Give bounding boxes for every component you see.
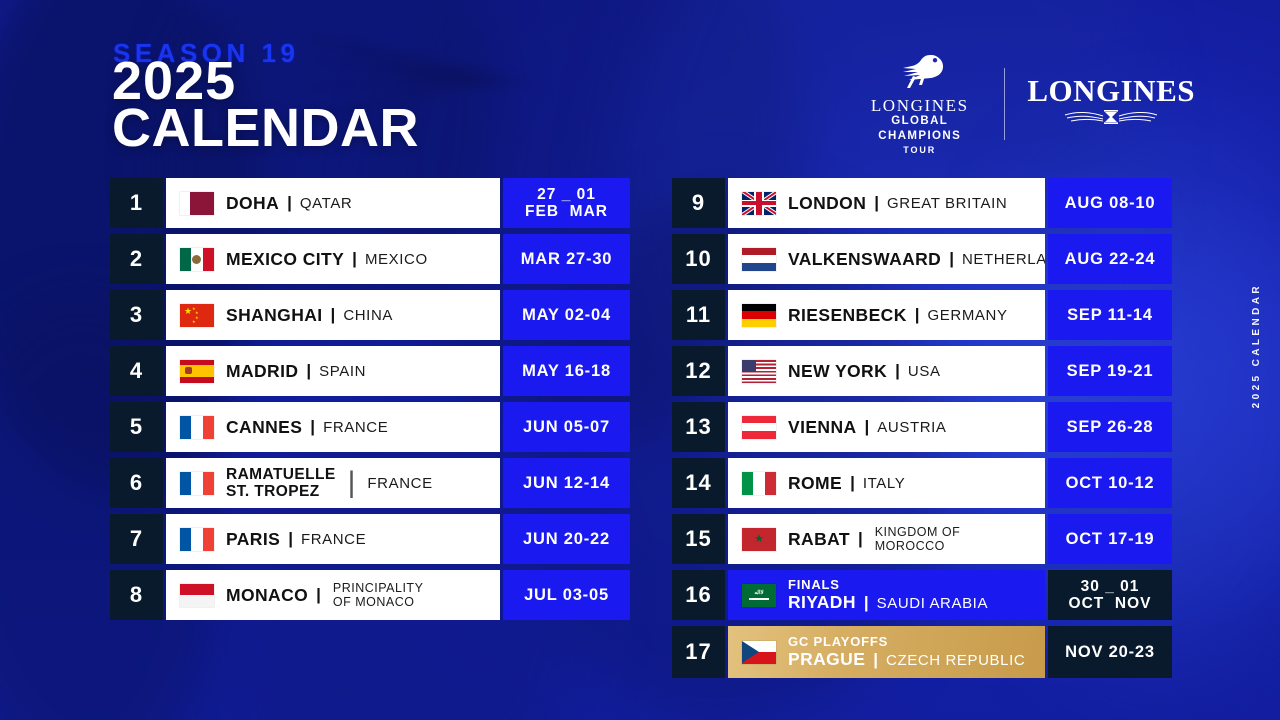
flag-icon-netherlands xyxy=(742,248,776,271)
row-number: 2 xyxy=(110,234,163,284)
date-range: SEP 11-14 xyxy=(1067,306,1153,325)
row-venue[interactable]: MADRID|SPAIN xyxy=(166,346,500,396)
row-venue[interactable]: ★RABAT|KINGDOM OFMOROCCO xyxy=(728,514,1045,564)
calendar-row[interactable]: 11RIESENBECK|GERMANYSEP 11-14 xyxy=(672,290,1172,340)
row-country: PRINCIPALITY xyxy=(333,581,424,595)
row-separator: | xyxy=(864,593,869,613)
date-range: NOV 20-23 xyxy=(1065,643,1155,662)
row-venue[interactable]: PARIS|FRANCE xyxy=(166,514,500,564)
date-separator: _ xyxy=(562,186,572,203)
row-country: GREAT BRITAIN xyxy=(887,195,1007,212)
flag-icon-china: ★★★★★ xyxy=(180,304,214,327)
row-venue-text: VALKENSWAARD|NETHERLANDS xyxy=(788,249,1045,270)
row-country: KINGDOM OF xyxy=(875,525,961,539)
date-range: JUN 20-22 xyxy=(523,530,610,549)
row-number: 10 xyxy=(672,234,725,284)
calendar-row[interactable]: 1DOHA|QATAR27 _ 01FEB MAR xyxy=(110,178,630,228)
date-month-start: OCT xyxy=(1069,595,1105,612)
row-city: PRAGUE xyxy=(788,649,865,670)
flag-icon-monaco xyxy=(180,584,214,607)
date-day-start: 27 xyxy=(537,186,556,203)
row-separator: | xyxy=(858,529,863,549)
row-venue-text: MEXICO CITY|MEXICO xyxy=(226,249,428,270)
flag-icon-france xyxy=(180,472,214,495)
date-month-start: FEB xyxy=(525,203,559,220)
row-city: SHANGHAI xyxy=(226,305,323,326)
lgct-logo: LONGINES GLOBAL CHAMPIONS TOUR xyxy=(855,52,984,157)
lgct-tour: TOUR xyxy=(855,144,984,157)
calendar-row[interactable]: 16لاالهFINALSRIYADH|SAUDI ARABIA30 _ 01O… xyxy=(672,570,1172,620)
row-separator: | xyxy=(288,529,293,549)
row-country: FRANCE xyxy=(367,475,432,492)
row-separator: | xyxy=(873,650,878,670)
row-separator: | xyxy=(287,193,292,213)
row-date: SEP 26-28 xyxy=(1048,402,1172,452)
row-venue-text: GC PLAYOFFSPRAGUE|CZECH REPUBLIC xyxy=(788,634,1025,670)
calendar-row[interactable]: 8MONACO|PRINCIPALITYOF MONACOJUL 03-05 xyxy=(110,570,630,620)
row-city: LONDON xyxy=(788,193,866,214)
row-date: OCT 17-19 xyxy=(1048,514,1172,564)
flag-icon-austria xyxy=(742,416,776,439)
date-day-end: 01 xyxy=(1120,578,1139,595)
calendar-row[interactable]: 13VIENNA|AUSTRIASEP 26-28 xyxy=(672,402,1172,452)
date-range: AUG 22-24 xyxy=(1065,250,1156,269)
row-city: RABAT xyxy=(788,529,850,550)
row-separator: | xyxy=(310,417,315,437)
row-venue[interactable]: ROME|ITALY xyxy=(728,458,1045,508)
row-date: MAY 02-04 xyxy=(503,290,630,340)
page-title: 2025 CALENDAR xyxy=(112,58,419,152)
row-date: 30 _ 01OCT NOV xyxy=(1048,570,1172,620)
row-venue[interactable]: MONACO|PRINCIPALITYOF MONACO xyxy=(166,570,500,620)
horse-icon xyxy=(883,52,957,92)
row-venue-text: MADRID|SPAIN xyxy=(226,361,366,382)
date-range-two-line: 30 _ 01OCT NOV xyxy=(1069,578,1152,612)
date-month-end: MAR xyxy=(570,203,608,220)
calendar-row[interactable]: 10VALKENSWAARD|NETHERLANDSAUG 22-24 xyxy=(672,234,1172,284)
title-word: CALENDAR xyxy=(112,105,419,152)
calendar-row[interactable]: 2MEXICO CITY|MEXICOMAR 27-30 xyxy=(110,234,630,284)
flag-icon-usa xyxy=(742,360,776,383)
row-venue-text: MONACO|PRINCIPALITYOF MONACO xyxy=(226,581,423,609)
flag-icon-saudi: لااله xyxy=(742,584,776,607)
flag-icon-france xyxy=(180,528,214,551)
row-date: AUG 08-10 xyxy=(1048,178,1172,228)
flag-icon-germany xyxy=(742,304,776,327)
row-date: JUL 03-05 xyxy=(503,570,630,620)
row-venue[interactable]: ★★★★★SHANGHAI|CHINA xyxy=(166,290,500,340)
longines-logo: LONGINES xyxy=(1027,75,1195,133)
date-range: JUN 05-07 xyxy=(523,418,610,437)
row-venue[interactable]: GC PLAYOFFSPRAGUE|CZECH REPUBLIC xyxy=(728,626,1045,678)
row-number: 1 xyxy=(110,178,163,228)
row-separator: | xyxy=(352,249,357,269)
row-venue[interactable]: DOHA|QATAR xyxy=(166,178,500,228)
row-country: CZECH REPUBLIC xyxy=(886,652,1025,669)
calendar-row[interactable]: 5CANNES|FRANCEJUN 05-07 xyxy=(110,402,630,452)
row-venue[interactable]: لاالهFINALSRIYADH|SAUDI ARABIA xyxy=(728,570,1045,620)
row-city: VALKENSWAARD xyxy=(788,249,941,270)
flag-icon-morocco: ★ xyxy=(742,528,776,551)
row-number: 9 xyxy=(672,178,725,228)
row-date: MAY 16-18 xyxy=(503,346,630,396)
row-date: NOV 20-23 xyxy=(1048,626,1172,678)
row-country-line2: MOROCCO xyxy=(875,539,961,553)
calendar-row[interactable]: 15★RABAT|KINGDOM OFMOROCCOOCT 17-19 xyxy=(672,514,1172,564)
calendar-row[interactable]: 7PARIS|FRANCEJUN 20-22 xyxy=(110,514,630,564)
calendar-row[interactable]: 9LONDON|GREAT BRITAINAUG 08-10 xyxy=(672,178,1172,228)
row-date: MAR 27-30 xyxy=(503,234,630,284)
row-number: 14 xyxy=(672,458,725,508)
row-separator: | xyxy=(331,305,336,325)
date-range: OCT 10-12 xyxy=(1066,474,1155,493)
row-city: DOHA xyxy=(226,193,279,214)
date-day-end: 01 xyxy=(577,186,596,203)
row-venue-text: ROME|ITALY xyxy=(788,473,905,494)
row-city: PARIS xyxy=(226,529,280,550)
row-number: 4 xyxy=(110,346,163,396)
row-number: 3 xyxy=(110,290,163,340)
calendar-row[interactable]: 14ROME|ITALYOCT 10-12 xyxy=(672,458,1172,508)
row-venue[interactable]: LONDON|GREAT BRITAIN xyxy=(728,178,1045,228)
logo-divider xyxy=(1004,68,1005,140)
row-country: AUSTRIA xyxy=(877,419,946,436)
calendar-column-right: 9LONDON|GREAT BRITAINAUG 08-1010VALKENSW… xyxy=(672,178,1172,684)
row-separator: | xyxy=(316,585,321,605)
row-separator: | xyxy=(874,193,879,213)
row-date: JUN 20-22 xyxy=(503,514,630,564)
row-separator: | xyxy=(949,249,954,269)
row-number: 8 xyxy=(110,570,163,620)
row-country: USA xyxy=(908,363,941,380)
row-date: OCT 10-12 xyxy=(1048,458,1172,508)
row-venue-text: SHANGHAI|CHINA xyxy=(226,305,393,326)
row-separator: | xyxy=(348,466,356,500)
calendar-row[interactable]: 12NEW YORK|USASEP 19-21 xyxy=(672,346,1172,396)
row-separator: | xyxy=(895,361,900,381)
flag-icon-qatar xyxy=(180,192,214,215)
row-country: FRANCE xyxy=(323,419,388,436)
row-city: RIYADH xyxy=(788,592,856,613)
flag-icon-mexico xyxy=(180,248,214,271)
lgct-longines-word: LONGINES xyxy=(855,97,984,114)
date-range: OCT 17-19 xyxy=(1066,530,1155,549)
row-date: 27 _ 01FEB MAR xyxy=(503,178,630,228)
date-range: MAR 27-30 xyxy=(521,250,613,269)
row-venue-text: CANNES|FRANCE xyxy=(226,417,388,438)
row-tagline: GC PLAYOFFS xyxy=(788,634,1025,649)
row-number: 5 xyxy=(110,402,163,452)
row-separator: | xyxy=(865,417,870,437)
date-range: AUG 08-10 xyxy=(1065,194,1156,213)
row-venue[interactable]: RIESENBECK|GERMANY xyxy=(728,290,1045,340)
date-separator: _ xyxy=(1105,578,1115,595)
winged-hourglass-icon xyxy=(1063,106,1159,128)
row-city: MONACO xyxy=(226,585,308,606)
row-venue-text: NEW YORK|USA xyxy=(788,361,941,382)
calendar-column-left: 1DOHA|QATAR27 _ 01FEB MAR2MEXICO CITY|ME… xyxy=(110,178,630,626)
row-country: NETHERLANDS xyxy=(962,251,1045,268)
date-range: MAY 02-04 xyxy=(522,306,611,325)
row-venue[interactable]: RAMATUELLEST. TROPEZ|FRANCE xyxy=(166,458,500,508)
date-range: SEP 19-21 xyxy=(1067,362,1154,381)
row-country-line2: OF MONACO xyxy=(333,595,424,609)
row-venue-text: PARIS|FRANCE xyxy=(226,529,366,550)
row-separator: | xyxy=(850,473,855,493)
row-date: AUG 22-24 xyxy=(1048,234,1172,284)
date-day-start: 30 xyxy=(1081,578,1100,595)
date-range: JUN 12-14 xyxy=(523,474,610,493)
date-range: SEP 26-28 xyxy=(1067,418,1154,437)
row-venue-text: LONDON|GREAT BRITAIN xyxy=(788,193,1007,214)
row-number: 16 xyxy=(672,570,725,620)
row-venue[interactable]: CANNES|FRANCE xyxy=(166,402,500,452)
date-month-end: NOV xyxy=(1115,595,1152,612)
row-country: ITALY xyxy=(863,475,905,492)
flag-icon-uk xyxy=(742,192,776,215)
row-city: RAMATUELLE xyxy=(226,466,336,483)
row-date: JUN 05-07 xyxy=(503,402,630,452)
row-venue-text: RIESENBECK|GERMANY xyxy=(788,305,1008,326)
row-separator: | xyxy=(306,361,311,381)
row-city: NEW YORK xyxy=(788,361,887,382)
side-label: 2025 CALENDAR xyxy=(1251,283,1262,408)
row-city: VIENNA xyxy=(788,417,857,438)
flag-icon-france xyxy=(180,416,214,439)
row-number: 6 xyxy=(110,458,163,508)
date-range: MAY 16-18 xyxy=(522,362,611,381)
row-number: 17 xyxy=(672,626,725,678)
row-country: QATAR xyxy=(300,195,352,212)
row-number: 15 xyxy=(672,514,725,564)
date-range-two-line: 27 _ 01FEB MAR xyxy=(525,186,608,220)
row-separator: | xyxy=(915,305,920,325)
flag-icon-italy xyxy=(742,472,776,495)
row-venue-text: RAMATUELLEST. TROPEZ|FRANCE xyxy=(226,466,433,500)
flag-icon-czech xyxy=(742,641,776,664)
row-country: MEXICO xyxy=(365,251,428,268)
row-number: 12 xyxy=(672,346,725,396)
page-header: SEASON 19 2025 CALENDAR LONGINES GLOBAL … xyxy=(0,0,1280,175)
row-city: MADRID xyxy=(226,361,298,382)
row-city: MEXICO CITY xyxy=(226,249,344,270)
row-tagline: FINALS xyxy=(788,577,988,592)
longines-wordmark: LONGINES xyxy=(1027,75,1195,106)
row-country: SAUDI ARABIA xyxy=(877,595,988,612)
row-country: FRANCE xyxy=(301,531,366,548)
row-date: JUN 12-14 xyxy=(503,458,630,508)
lgct-global-champions: GLOBAL CHAMPIONS xyxy=(855,114,984,144)
row-venue-text: FINALSRIYADH|SAUDI ARABIA xyxy=(788,577,988,613)
row-city-line2: ST. TROPEZ xyxy=(226,483,336,500)
date-range: JUL 03-05 xyxy=(524,586,609,605)
calendar-row[interactable]: 17GC PLAYOFFSPRAGUE|CZECH REPUBLICNOV 20… xyxy=(672,626,1172,678)
row-venue-text: RABAT|KINGDOM OFMOROCCO xyxy=(788,525,960,553)
row-date: SEP 19-21 xyxy=(1048,346,1172,396)
calendar-row[interactable]: 4MADRID|SPAINMAY 16-18 xyxy=(110,346,630,396)
row-date: SEP 11-14 xyxy=(1048,290,1172,340)
row-city: RIESENBECK xyxy=(788,305,907,326)
row-venue[interactable]: NEW YORK|USA xyxy=(728,346,1045,396)
row-venue-text: VIENNA|AUSTRIA xyxy=(788,417,947,438)
row-venue[interactable]: VIENNA|AUSTRIA xyxy=(728,402,1045,452)
row-city: CANNES xyxy=(226,417,302,438)
row-country: SPAIN xyxy=(319,363,366,380)
calendar-row[interactable]: 3★★★★★SHANGHAI|CHINAMAY 02-04 xyxy=(110,290,630,340)
row-number: 13 xyxy=(672,402,725,452)
row-number: 7 xyxy=(110,514,163,564)
row-venue[interactable]: MEXICO CITY|MEXICO xyxy=(166,234,500,284)
logo-group: LONGINES GLOBAL CHAMPIONS TOUR LONGINES xyxy=(855,58,1195,150)
row-country: CHINA xyxy=(343,307,393,324)
row-number: 11 xyxy=(672,290,725,340)
row-city: ROME xyxy=(788,473,842,494)
calendar-row[interactable]: 6RAMATUELLEST. TROPEZ|FRANCEJUN 12-14 xyxy=(110,458,630,508)
flag-icon-spain xyxy=(180,360,214,383)
row-country: GERMANY xyxy=(928,307,1008,324)
row-venue-text: DOHA|QATAR xyxy=(226,193,352,214)
row-venue[interactable]: VALKENSWAARD|NETHERLANDS xyxy=(728,234,1045,284)
